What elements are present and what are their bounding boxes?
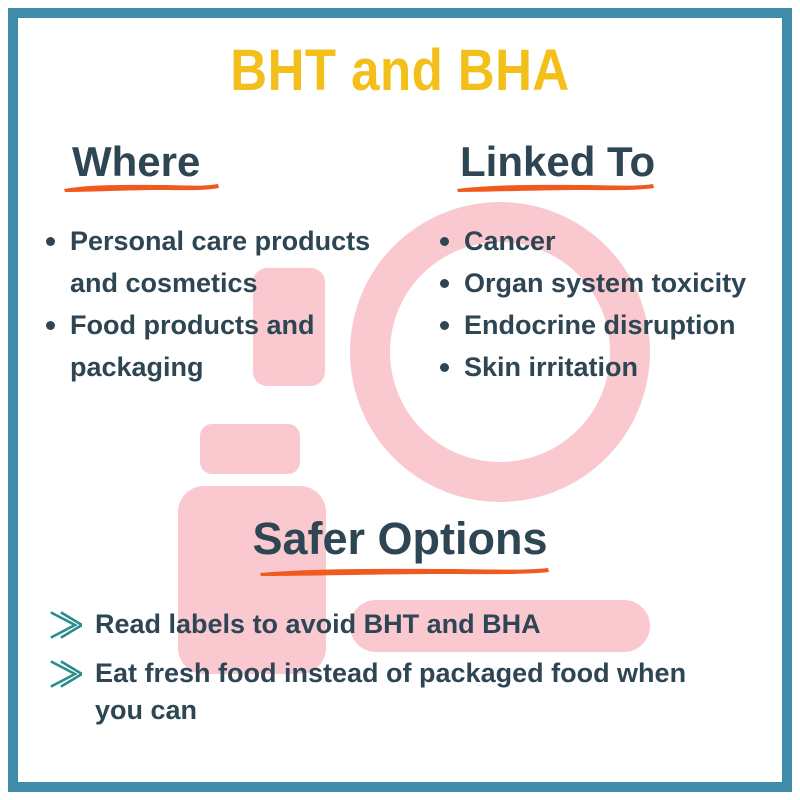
heading-linked-to: Linked To xyxy=(460,138,655,186)
brush-underline-safer-options xyxy=(258,566,550,577)
infographic-canvas: BHT and BHA Where Personal care products… xyxy=(0,0,800,800)
list-item-text: Personal care products and cosmetics xyxy=(70,226,370,298)
bullet-dot-icon xyxy=(46,237,55,246)
list-item-text: Food products and packaging xyxy=(70,310,314,382)
chevron-right-icon xyxy=(48,610,82,640)
list-item: Personal care products and cosmetics xyxy=(38,220,418,304)
list-item-text: Endocrine disruption xyxy=(464,310,736,340)
heading-where: Where xyxy=(72,138,200,186)
brush-underline-linked-to xyxy=(455,182,655,193)
bullet-dot-icon xyxy=(440,363,449,372)
page-title: BHT and BHA xyxy=(48,40,752,102)
list-item: Food products and packaging xyxy=(38,304,418,388)
list-safer-options: Read labels to avoid BHT and BHA Eat fre… xyxy=(40,606,740,741)
list-item-text: Read labels to avoid BHT and BHA xyxy=(95,609,541,639)
list-item: Read labels to avoid BHT and BHA xyxy=(40,606,740,643)
bullet-dot-icon xyxy=(46,321,55,330)
brush-underline-where xyxy=(62,182,220,193)
heading-safer-options: Safer Options xyxy=(0,514,800,564)
list-item-text: Organ system toxicity xyxy=(464,268,746,298)
list-item-text: Cancer xyxy=(464,226,556,256)
list-where: Personal care products and cosmetics Foo… xyxy=(38,220,418,388)
content-layer: BHT and BHA Where Personal care products… xyxy=(0,0,800,800)
bullet-dot-icon xyxy=(440,321,449,330)
list-item: Eat fresh food instead of packaged food … xyxy=(40,655,740,729)
list-item: Cancer xyxy=(432,220,777,262)
list-item-text: Eat fresh food instead of packaged food … xyxy=(95,658,686,725)
chevron-right-icon xyxy=(48,659,82,689)
bullet-dot-icon xyxy=(440,237,449,246)
list-item: Skin irritation xyxy=(432,346,777,388)
list-item: Organ system toxicity xyxy=(432,262,777,304)
list-linked-to: Cancer Organ system toxicity Endocrine d… xyxy=(432,220,777,388)
bullet-dot-icon xyxy=(440,279,449,288)
list-item: Endocrine disruption xyxy=(432,304,777,346)
list-item-text: Skin irritation xyxy=(464,352,638,382)
